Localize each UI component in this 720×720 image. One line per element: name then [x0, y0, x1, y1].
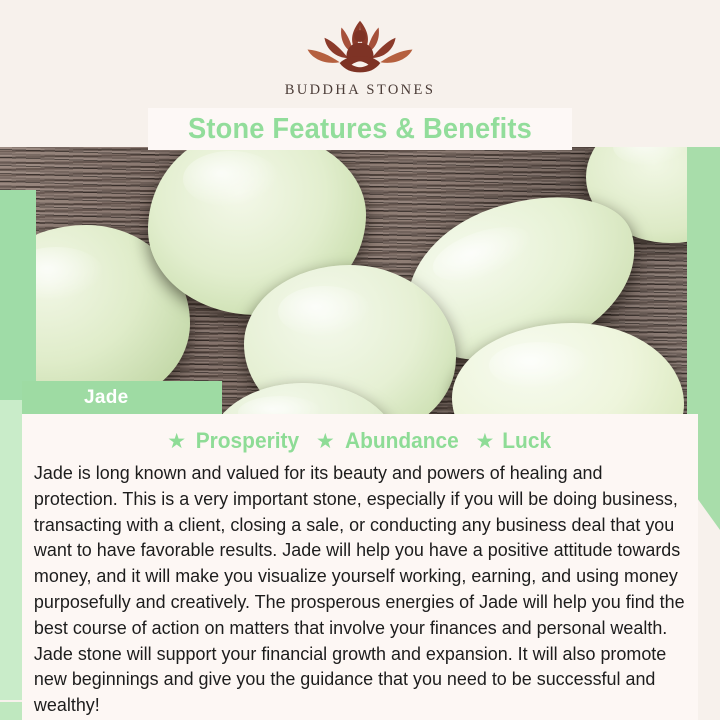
brand-name: BUDDHA STONES	[285, 82, 436, 99]
benefit-item: ★ Prosperity	[167, 428, 302, 454]
stone-info-card: BUDDHA STONES Stone Features & Benefits …	[0, 0, 720, 720]
benefit-item: ★ Abundance	[316, 428, 462, 454]
content-panel: ★ Prosperity ★ Abundance ★ Luck Jade is …	[22, 414, 698, 720]
benefit-label: Abundance	[345, 428, 459, 454]
title-banner: Stone Features & Benefits	[148, 108, 572, 150]
stone-description: Jade is long known and valued for its be…	[32, 460, 688, 718]
star-icon: ★	[167, 431, 186, 452]
page-title: Stone Features & Benefits	[188, 113, 532, 146]
star-icon: ★	[316, 431, 335, 452]
benefit-item: ★ Luck	[476, 428, 553, 454]
lotus-meditation-icon	[292, 14, 428, 80]
star-icon: ★	[476, 431, 495, 452]
benefits-row: ★ Prosperity ★ Abundance ★ Luck	[32, 428, 688, 454]
benefit-label: Luck	[503, 428, 552, 454]
left-accent-bar	[0, 190, 36, 400]
brand-header: BUDDHA STONES	[0, 0, 720, 112]
benefit-label: Prosperity	[196, 428, 299, 454]
stone-name-ribbon: Jade	[22, 381, 222, 414]
left-accent-bar-lower	[0, 400, 22, 700]
stone-name-label: Jade	[84, 387, 129, 409]
